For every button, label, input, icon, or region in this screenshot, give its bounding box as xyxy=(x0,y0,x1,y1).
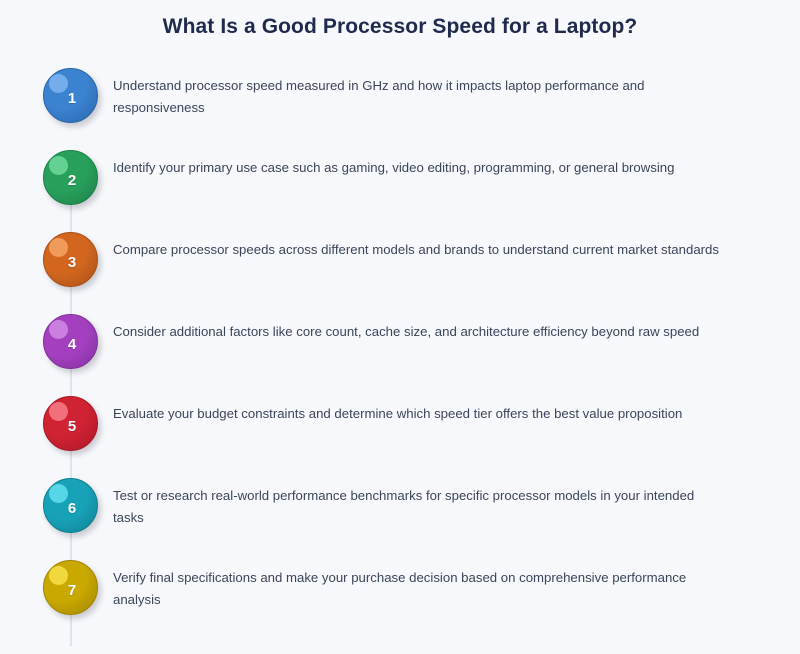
step-description-1: Understand processor speed measured in G… xyxy=(113,75,728,119)
step-item-2: 2 Identify your primary use case such as… xyxy=(0,150,800,232)
step-marker-1: 1 xyxy=(43,68,98,123)
step-description-5: Evaluate your budget constraints and det… xyxy=(113,403,728,425)
step-marker-7: 7 xyxy=(43,560,98,615)
steps-list: 1 Understand processor speed measured in… xyxy=(0,68,800,642)
step-number-2: 2 xyxy=(43,150,98,205)
step-item-7: 7 Verify final specifications and make y… xyxy=(0,560,800,642)
step-marker-5: 5 xyxy=(43,396,98,451)
step-item-6: 6 Test or research real-world performanc… xyxy=(0,478,800,560)
page-title: What Is a Good Processor Speed for a Lap… xyxy=(0,15,800,39)
step-item-4: 4 Consider additional factors like core … xyxy=(0,314,800,396)
step-number-5: 5 xyxy=(43,396,98,451)
step-number-4: 4 xyxy=(43,314,98,369)
step-item-3: 3 Compare processor speeds across differ… xyxy=(0,232,800,314)
step-number-6: 6 xyxy=(43,478,98,533)
step-item-1: 1 Understand processor speed measured in… xyxy=(0,68,800,150)
step-description-3: Compare processor speeds across differen… xyxy=(113,239,728,261)
step-number-1: 1 xyxy=(43,68,98,123)
step-description-2: Identify your primary use case such as g… xyxy=(113,157,728,179)
step-description-4: Consider additional factors like core co… xyxy=(113,321,728,343)
step-marker-3: 3 xyxy=(43,232,98,287)
process-infographic: What Is a Good Processor Speed for a Lap… xyxy=(0,0,800,654)
step-number-3: 3 xyxy=(43,232,98,287)
step-number-7: 7 xyxy=(43,560,98,615)
step-marker-6: 6 xyxy=(43,478,98,533)
step-description-6: Test or research real-world performance … xyxy=(113,485,728,529)
step-marker-4: 4 xyxy=(43,314,98,369)
step-item-5: 5 Evaluate your budget constraints and d… xyxy=(0,396,800,478)
step-description-7: Verify final specifications and make you… xyxy=(113,567,728,611)
step-marker-2: 2 xyxy=(43,150,98,205)
